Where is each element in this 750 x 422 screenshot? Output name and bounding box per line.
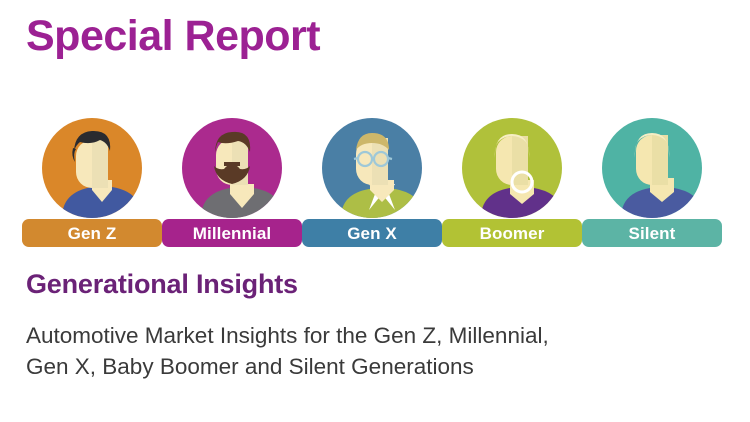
persona-card-gen-z[interactable]: Gen Z — [22, 118, 162, 253]
persona-card-gen-x[interactable]: Gen X — [302, 118, 442, 253]
section-heading: Generational Insights — [26, 270, 298, 300]
avatar-millennial — [182, 118, 282, 218]
description-line-1: Automotive Market Insights for the Gen Z… — [26, 320, 726, 351]
persona-card-silent[interactable]: Silent — [582, 118, 722, 253]
persona-label-pill-boomer[interactable]: Boomer — [442, 219, 582, 247]
persona-strip: Gen Z Millennial Gen X — [22, 118, 728, 253]
section-description: Automotive Market Insights for the Gen Z… — [26, 320, 726, 382]
description-line-2: Gen X, Baby Boomer and Silent Generation… — [26, 351, 726, 382]
avatar-boomer — [462, 118, 562, 218]
persona-label-pill-silent[interactable]: Silent — [582, 219, 722, 247]
persona-label-pill-gen-z[interactable]: Gen Z — [22, 219, 162, 247]
avatar-gen-z — [42, 118, 142, 218]
avatar-silent — [602, 118, 702, 218]
persona-label-boomer: Boomer — [480, 225, 545, 242]
persona-label-silent: Silent — [629, 225, 676, 242]
special-report-slide: Special Report Gen Z Millennial — [0, 0, 750, 422]
persona-label-millennial: Millennial — [193, 225, 271, 242]
persona-card-millennial[interactable]: Millennial — [162, 118, 302, 253]
persona-card-boomer[interactable]: Boomer — [442, 118, 582, 253]
persona-label-gen-z: Gen Z — [68, 225, 117, 242]
avatar-gen-x — [322, 118, 422, 218]
persona-label-pill-millennial[interactable]: Millennial — [162, 219, 302, 247]
persona-label-pill-gen-x[interactable]: Gen X — [302, 219, 442, 247]
persona-label-gen-x: Gen X — [347, 225, 397, 242]
page-title: Special Report — [26, 12, 320, 61]
